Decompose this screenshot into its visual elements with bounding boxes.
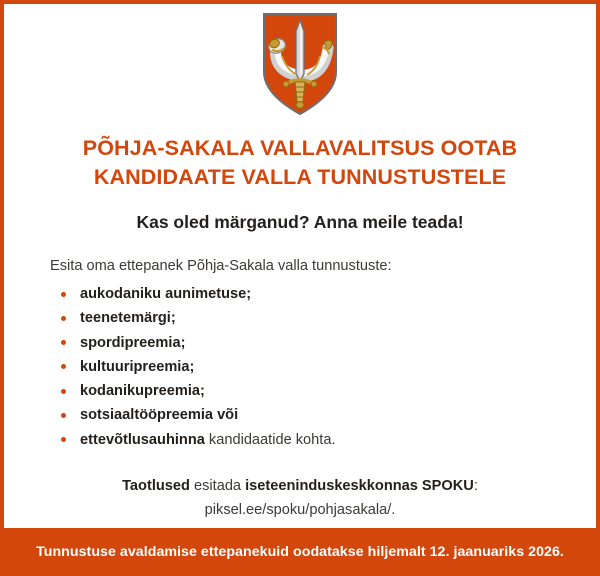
application-connector: esitada: [190, 478, 245, 494]
list-item-label: sotsiaaltööpreemia või: [80, 407, 238, 423]
list-item-label: aukodaniku aunimetuse;: [80, 286, 251, 302]
bullet-icon: [61, 389, 66, 394]
bullet-icon: [61, 316, 66, 321]
list-item: kultuuripreemia;: [50, 355, 566, 379]
page-title-line-1: PÕHJA-SAKALA VALLAVALITSUS OOTAB: [4, 134, 596, 163]
body-block: Esita oma ettepanek Põhja-Sakala valla t…: [4, 256, 596, 452]
award-list: aukodaniku aunimetuse; teenetemärgi; spo…: [50, 282, 566, 452]
list-item-label: kultuuripreemia;: [80, 359, 194, 375]
application-colon: :: [474, 478, 478, 494]
deadline-footer-bar: Tunnustuse avaldamise ettepanekuid oodat…: [0, 528, 600, 576]
poster: PÕHJA-SAKALA VALLAVALITSUS OOTAB KANDIDA…: [0, 0, 600, 576]
list-item: kodanikupreemia;: [50, 379, 566, 403]
list-item: aukodaniku aunimetuse;: [50, 282, 566, 306]
deadline-text: Tunnustuse avaldamise ettepanekuid oodat…: [36, 544, 564, 560]
list-item-label: spordipreemia;: [80, 335, 185, 351]
bullet-icon: [61, 364, 66, 369]
list-item-label: ettevõtlusauhinna: [80, 432, 205, 448]
list-item: ettevõtlusauhinna kandidaatide kohta.: [50, 428, 566, 452]
page-title-line-2: KANDIDAATE VALLA TUNNUSTUSTELE: [4, 163, 596, 192]
crest-container: [4, 4, 596, 116]
application-label: Taotlused: [122, 478, 190, 494]
application-portal-name: iseteeninduskeskkonnas SPOKU: [245, 478, 474, 494]
sword-pommel: [296, 102, 304, 109]
bullet-icon: [61, 292, 66, 297]
pohja-sakala-coat-of-arms-icon: [262, 12, 338, 116]
list-item: teenetemärgi;: [50, 306, 566, 330]
application-url[interactable]: piksel.ee/spoku/pohjasakala/.: [4, 498, 596, 522]
list-item: sotsiaaltööpreemia või: [50, 403, 566, 427]
intro-text: Esita oma ettepanek Põhja-Sakala valla t…: [50, 256, 566, 276]
list-item-label: kodanikupreemia;: [80, 383, 205, 399]
list-item-tail: kandidaatide kohta.: [205, 432, 336, 448]
bullet-icon: [61, 437, 66, 442]
page-title: PÕHJA-SAKALA VALLAVALITSUS OOTAB KANDIDA…: [4, 134, 596, 192]
application-info: Taotlused esitada iseteeninduskeskkonnas…: [4, 474, 596, 522]
bullet-icon: [61, 340, 66, 345]
page-subtitle: Kas oled märganud? Anna meile teada!: [4, 211, 596, 234]
bullet-icon: [61, 413, 66, 418]
list-item: spordipreemia;: [50, 331, 566, 355]
list-item-label: teenetemärgi;: [80, 310, 176, 326]
